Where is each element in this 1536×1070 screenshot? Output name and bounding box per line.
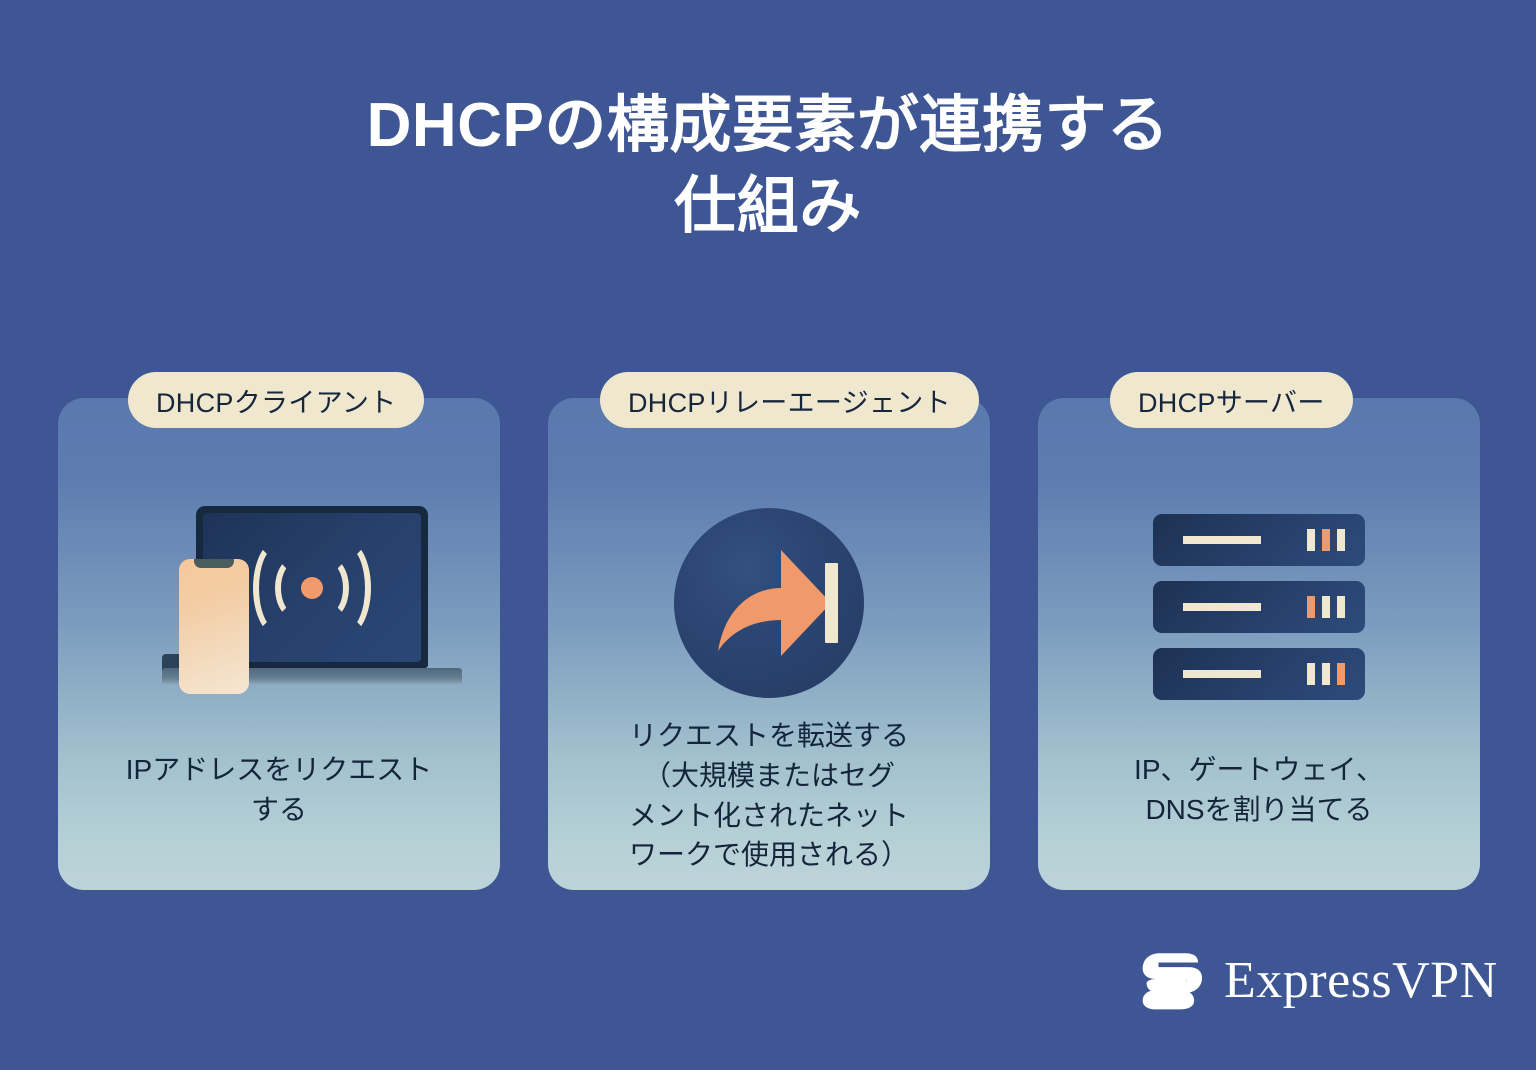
phone-notch bbox=[194, 559, 234, 568]
cards-row: IPアドレスをリクエスト する リクエストを転送する （大規模またはセグ メント… bbox=[58, 398, 1480, 890]
server-indicator-bar bbox=[1183, 603, 1261, 611]
server-led bbox=[1307, 529, 1315, 551]
server-indicator-bar bbox=[1183, 670, 1261, 678]
server-leds bbox=[1307, 529, 1345, 551]
expressvpn-wordmark: ExpressVPN bbox=[1224, 955, 1498, 1007]
card-dhcp-client: IPアドレスをリクエスト する bbox=[58, 398, 500, 890]
pill-dhcp-client: DHCPクライアント bbox=[128, 372, 424, 428]
server-rack-row bbox=[1153, 648, 1365, 700]
card-body-text: IPアドレスをリクエスト する bbox=[76, 750, 482, 830]
broadcast-signal-icon bbox=[237, 538, 387, 638]
server-led-active bbox=[1322, 529, 1330, 551]
server-rack-row bbox=[1153, 514, 1365, 566]
forward-arrow-circle-icon bbox=[674, 508, 864, 698]
smartphone-icon bbox=[179, 559, 249, 694]
server-led bbox=[1307, 663, 1315, 685]
forward-arrow-svg bbox=[674, 508, 864, 698]
server-led bbox=[1322, 663, 1330, 685]
infographic-page: DHCPの構成要素が連携する 仕組み bbox=[0, 0, 1536, 1070]
server-rack-row bbox=[1153, 581, 1365, 633]
server-indicator-bar bbox=[1183, 536, 1261, 544]
server-led bbox=[1337, 529, 1345, 551]
page-title: DHCPの構成要素が連携する 仕組み bbox=[0, 86, 1536, 247]
expressvpn-e-icon bbox=[1140, 948, 1206, 1014]
server-led bbox=[1322, 596, 1330, 618]
laptop-phone-signal-icon bbox=[58, 496, 500, 716]
card-body-text: IP、ゲートウェイ、 DNSを割り当てる bbox=[1056, 750, 1462, 830]
pill-dhcp-server: DHCPサーバー bbox=[1110, 372, 1353, 428]
card-dhcp-relay-agent: リクエストを転送する （大規模またはセグ メント化されたネット ワークで使用され… bbox=[548, 398, 990, 890]
server-leds bbox=[1307, 596, 1345, 618]
expressvpn-logo: ExpressVPN bbox=[1140, 948, 1498, 1014]
server-leds bbox=[1307, 663, 1345, 685]
signal-arc-right-outer bbox=[321, 540, 371, 636]
pill-dhcp-relay-agent: DHCPリレーエージェント bbox=[600, 372, 979, 428]
card-dhcp-server: IP、ゲートウェイ、 DNSを割り当てる bbox=[1038, 398, 1480, 890]
server-led-active bbox=[1337, 663, 1345, 685]
server-led-active bbox=[1307, 596, 1315, 618]
server-stack-icon bbox=[1153, 514, 1365, 700]
card-body-text: リクエストを転送する （大規模またはセグ メント化されたネット ワークで使用され… bbox=[566, 716, 972, 875]
server-led bbox=[1337, 596, 1345, 618]
